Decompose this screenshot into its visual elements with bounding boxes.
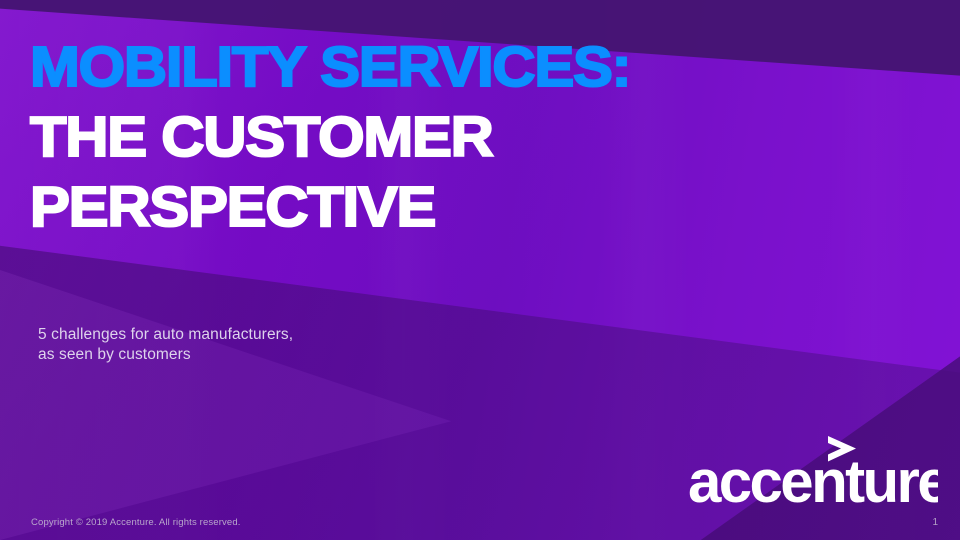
page-title: MOBILITY SERVICES: THE CUSTOMER PERSPECT… — [30, 38, 730, 237]
slide-content: MOBILITY SERVICES: THE CUSTOMER PERSPECT… — [0, 0, 960, 540]
accenture-logo-svg: accenture — [688, 432, 938, 510]
accenture-logo: accenture — [688, 432, 938, 510]
title-line-primary: MOBILITY SERVICES: — [30, 38, 765, 97]
subtitle-line-1: 5 challenges for auto manufacturers, — [38, 325, 293, 345]
copyright-notice: Copyright © 2019 Accenture. All rights r… — [31, 517, 241, 528]
accenture-wordmark: accenture — [688, 448, 938, 510]
title-line-secondary: THE CUSTOMER — [30, 108, 765, 167]
title-line-tertiary: PERSPECTIVE — [30, 178, 765, 237]
presentation-slide: MOBILITY SERVICES: THE CUSTOMER PERSPECT… — [0, 0, 960, 540]
subtitle-line-2: as seen by customers — [38, 345, 293, 365]
page-number: 1 — [932, 517, 938, 528]
subtitle: 5 challenges for auto manufacturers, as … — [38, 325, 293, 365]
